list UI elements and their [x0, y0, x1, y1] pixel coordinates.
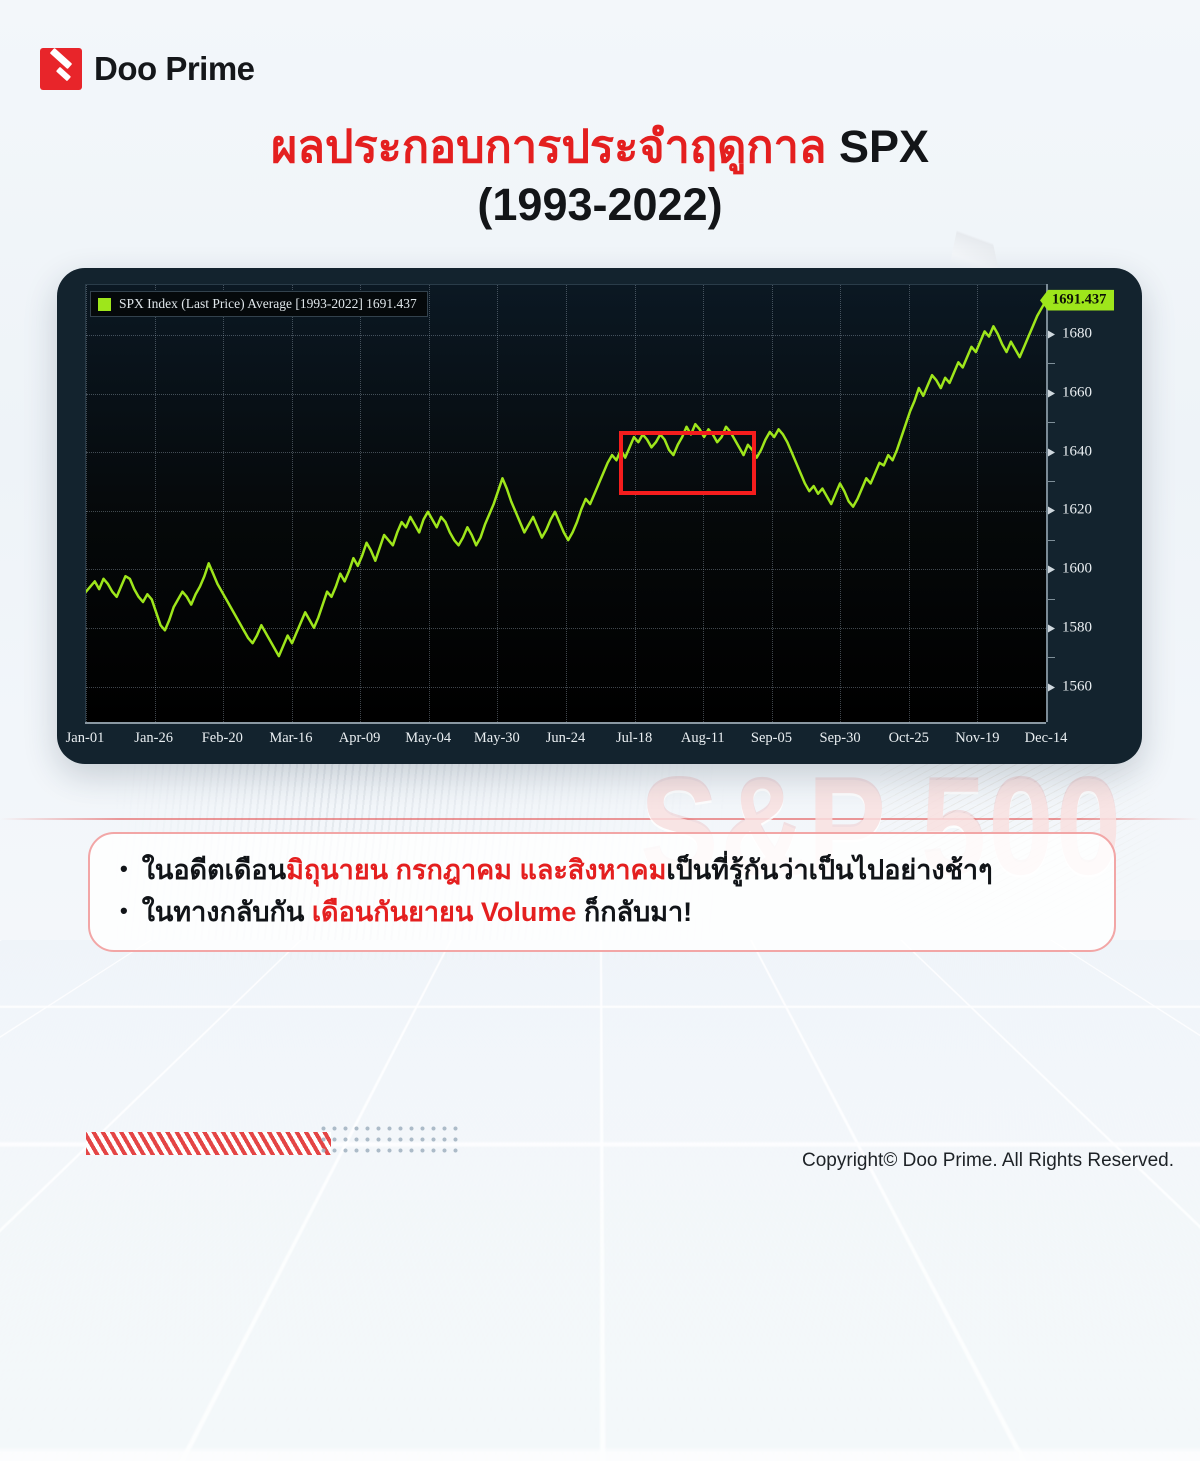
y-axis-tick-label: 1680: [1048, 325, 1092, 342]
x-axis-tick-label: Jan-01: [66, 730, 105, 747]
x-axis-tick-label: May-04: [405, 730, 451, 747]
y-axis-minor-tick: [1048, 363, 1055, 364]
y-axis-minor-tick: [1048, 481, 1055, 482]
footer-dot-grid-decoration: [318, 1123, 458, 1153]
brand-logo: Doo Prime: [40, 48, 255, 90]
y-axis-minor-tick: [1048, 599, 1055, 600]
bullet-item-2: • ในทางกลับกัน เดือนกันยายน Volume ก็กลั…: [120, 892, 1084, 934]
y-axis-tick-label: 1660: [1048, 384, 1092, 401]
spx-price-line: [86, 285, 1046, 669]
x-axis-tick-label: Jul-18: [616, 730, 652, 747]
chart-card: SPX Index (Last Price) Average [1993-202…: [57, 268, 1142, 764]
title-thai-text: ผลประกอบการประจำฤดูกาล: [271, 121, 839, 172]
chart-x-axis: Jan-01Jan-26Feb-20Mar-16Apr-09May-04May-…: [85, 722, 1046, 756]
bullet-1-run-2: มิถุนายน กรกฎาคม และสิงหาคม: [286, 855, 666, 885]
x-axis-tick-label: Jun-24: [546, 730, 585, 747]
y-axis-tick-label: 1600: [1048, 561, 1092, 578]
chart-plot-area: SPX Index (Last Price) Average [1993-202…: [85, 284, 1046, 722]
bullet-2-run-1: ในทางกลับกัน: [142, 897, 312, 927]
bullet-item-1: • ในอดีตเดือนมิถุนายน กรกฎาคม และสิงหาคม…: [120, 850, 1084, 892]
x-axis-tick-label: Apr-09: [339, 730, 381, 747]
x-axis-tick-label: Sep-05: [751, 730, 792, 747]
title-symbol: SPX: [839, 121, 929, 172]
y-axis-tick-label: 1580: [1048, 619, 1092, 636]
bullet-dot-icon: •: [120, 850, 128, 889]
footer-stripe-decoration: [86, 1132, 331, 1155]
y-axis-tick-label: 1560: [1048, 678, 1092, 695]
copyright-text: Copyright© Doo Prime. All Rights Reserve…: [802, 1150, 1174, 1172]
x-axis-tick-label: Dec-14: [1025, 730, 1068, 747]
page-title: ผลประกอบการประจำฤดูกาล SPX (1993-2022): [0, 118, 1200, 233]
x-axis-tick-label: Jan-26: [134, 730, 173, 747]
y-axis-minor-tick: [1048, 422, 1055, 423]
bullet-text-2: ในทางกลับกัน เดือนกันยายน Volume ก็กลับม…: [142, 892, 692, 934]
bullet-1-run-3: เป็นที่รู้กันว่าเป็นไปอย่างช้าๆ: [666, 855, 992, 885]
y-axis-tick-label: 1620: [1048, 502, 1092, 519]
bullet-text-1: ในอดีตเดือนมิถุนายน กรกฎาคม และสิงหาคมเป…: [142, 850, 993, 892]
bullet-dot-icon: •: [120, 892, 128, 931]
title-line-2: (1993-2022): [0, 176, 1200, 234]
y-axis-minor-tick: [1048, 657, 1055, 658]
bullet-points-card: • ในอดีตเดือนมิถุนายน กรกฎาคม และสิงหาคม…: [88, 832, 1116, 952]
y-axis-tick-label: 1640: [1048, 443, 1092, 460]
x-axis-tick-label: Sep-30: [820, 730, 861, 747]
x-axis-tick-label: May-30: [474, 730, 520, 747]
bullet-1-run-1: ในอดีตเดือน: [142, 855, 286, 885]
bullet-2-run-3: ก็กลับมา!: [576, 897, 692, 927]
legend-color-swatch: [98, 298, 111, 311]
bullet-2-run-2: เดือนกันยายน Volume: [312, 897, 577, 927]
title-line-1: ผลประกอบการประจำฤดูกาล SPX: [0, 118, 1200, 176]
chart-legend: SPX Index (Last Price) Average [1993-202…: [90, 291, 428, 317]
y-axis-minor-tick: [1048, 540, 1055, 541]
chart-y-axis: 1691.437 1560158016001620164016601680: [1046, 284, 1128, 722]
last-price-tag: 1691.437: [1040, 290, 1114, 311]
highlight-rectangle-annotation: [619, 431, 756, 494]
doo-prime-flag-icon: [40, 48, 82, 90]
x-axis-tick-label: Feb-20: [202, 730, 243, 747]
brand-name: Doo Prime: [94, 50, 255, 88]
x-axis-tick-label: Aug-11: [681, 730, 725, 747]
x-axis-tick-label: Nov-19: [955, 730, 999, 747]
legend-label: SPX Index (Last Price) Average [1993-202…: [119, 296, 417, 312]
x-axis-tick-label: Mar-16: [269, 730, 312, 747]
x-axis-tick-label: Oct-25: [889, 730, 929, 747]
